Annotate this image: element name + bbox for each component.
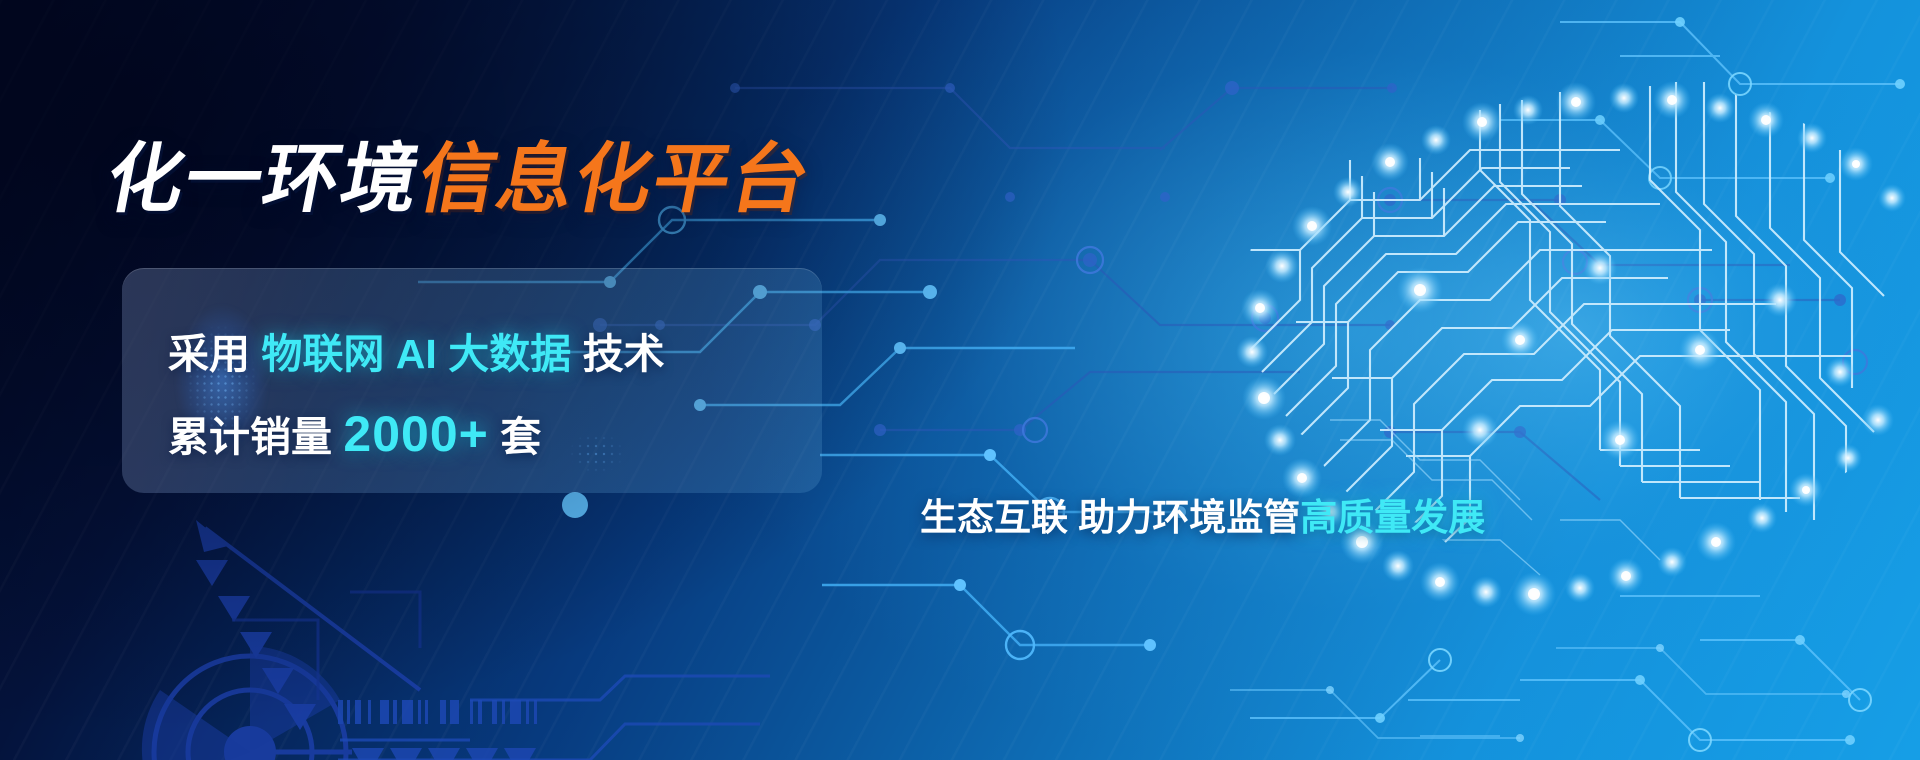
decor-barcode [338,700,537,724]
tagline-white: 生态互联 助力环境监管 [920,497,1300,538]
panel-line-technology: 采用 物联网 AI 大数据 技术 [168,320,665,380]
decor-screen-outline [232,592,420,700]
tagline: 生态互联 助力环境监管高质量发展 [920,487,1480,541]
decor-hud-lines [338,676,770,760]
circuit-network-right [1250,22,1900,740]
page-title-white: 化一环境 [100,137,429,222]
panel-line2-prefix: 累计销量 [168,414,332,460]
panel-line2-highlight: 2000+ [343,406,488,462]
info-panel: 采用 物联网 AI 大数据 技术 累计销量 2000+ 套 [122,268,822,493]
decor-hud-dial [142,646,352,760]
panel-dot-pattern-secondary [552,418,642,488]
decor-arrow [196,520,420,730]
panel-line-sales: 累计销量 2000+ 套 [168,403,541,463]
tagline-highlight: 高质量发展 [1300,497,1485,538]
page-title: 化一环境信息化平台 [100,140,818,220]
decor-chevrons [352,748,536,760]
panel-line2-suffix: 套 [500,414,541,460]
circuit-network-bottomright [1230,648,1846,738]
page-title-orange: 信息化平台 [412,137,819,222]
hero-banner: 化一环境信息化平台 采用 物联网 AI 大数据 技术 累计销量 2000+ 套 … [0,0,1920,760]
panel-line1-suffix: 技术 [583,331,665,377]
panel-line1-highlight: 物联网 AI 大数据 [261,331,571,377]
panel-line1-prefix: 采用 [168,331,250,377]
